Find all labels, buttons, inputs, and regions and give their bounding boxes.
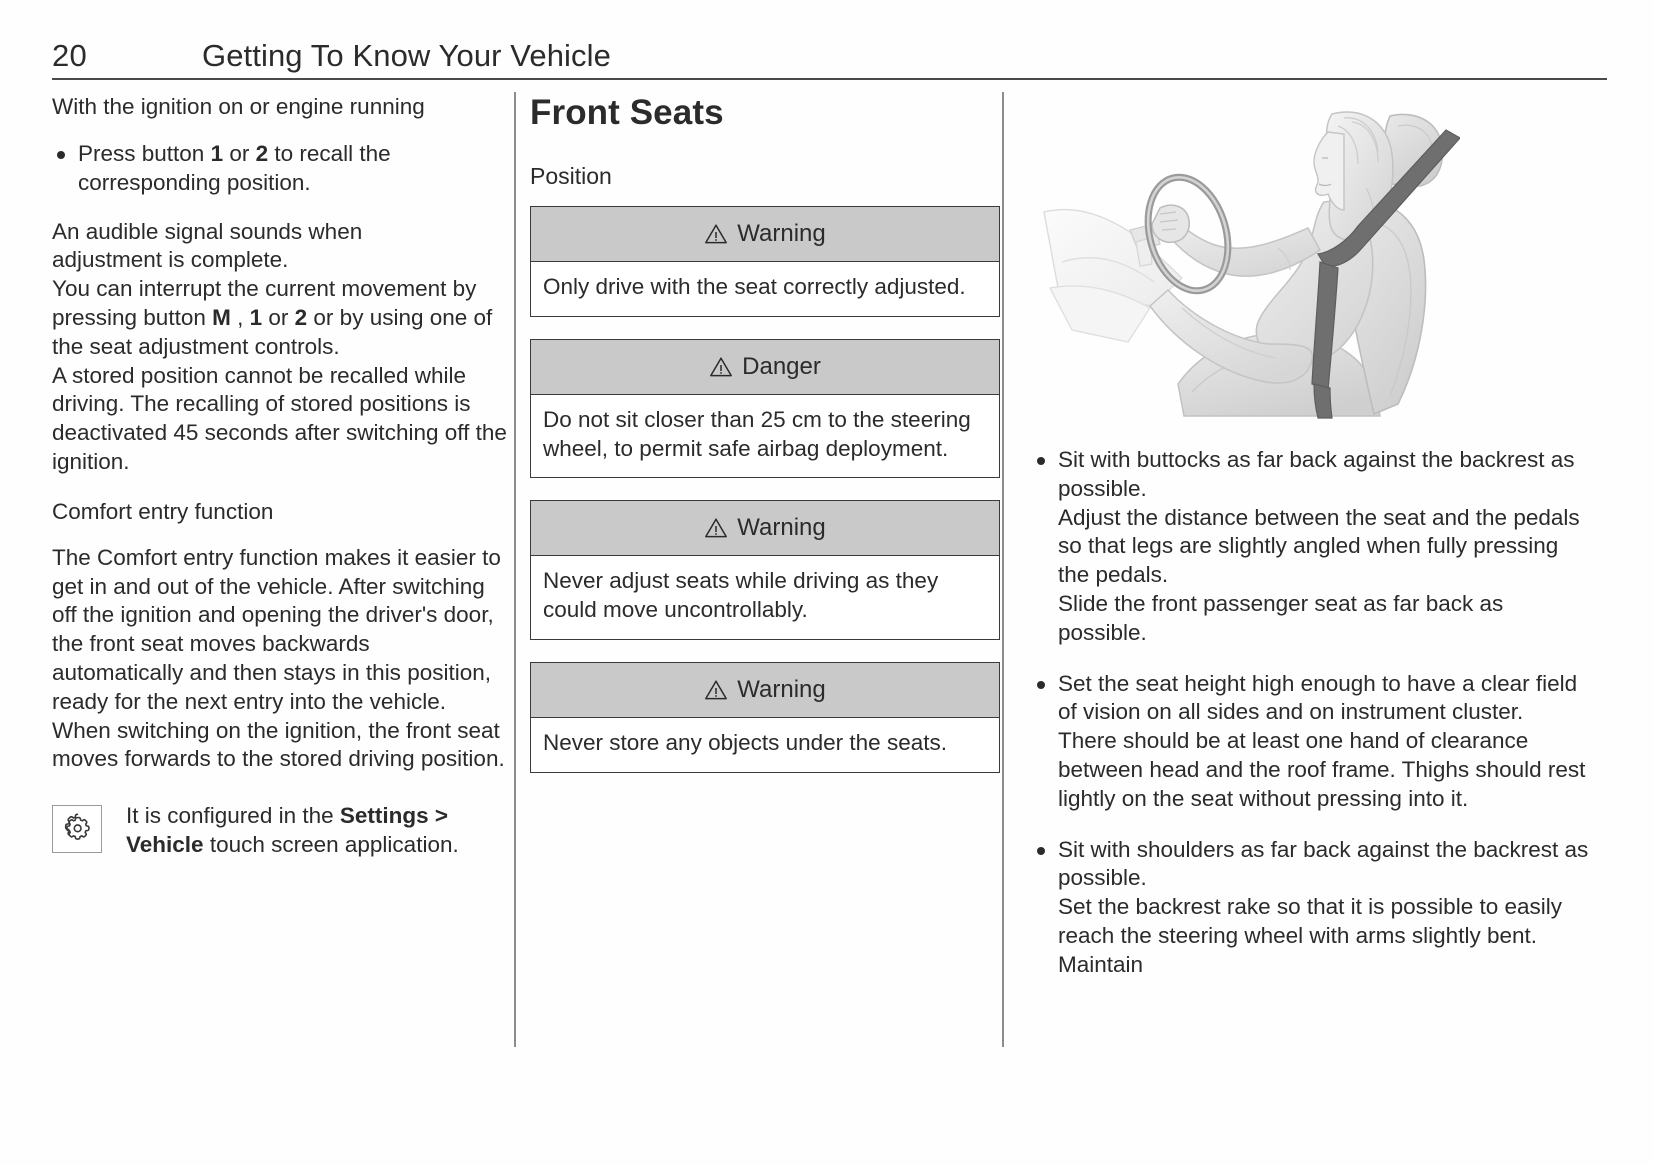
seating-position-bullets: Sit with buttocks as far back against th…	[1032, 446, 1592, 980]
column-divider-right	[1002, 92, 1004, 1047]
bullet-text-pre: Press button	[78, 141, 211, 166]
notice-box-warning-2: Warning Never adjust seats while driving…	[530, 500, 1000, 640]
settings-note: It is configured in the Settings > Vehic…	[52, 802, 507, 860]
notice-label: Warning	[737, 676, 825, 704]
list-item: Set the seat height high enough to have …	[1032, 670, 1592, 814]
left-column-heading: With the ignition on or engine running	[52, 92, 507, 121]
notice-label: Warning	[737, 514, 825, 542]
middle-column: Front Seats Position Warning Only drive …	[530, 92, 1000, 1052]
warning-triangle-icon	[704, 679, 728, 701]
warning-triangle-icon	[704, 223, 728, 245]
notice-box-warning-1: Warning Only drive with the seat correct…	[530, 206, 1000, 317]
button-label-2: 2	[256, 141, 269, 166]
stored-position-text: A stored position cannot be recalled whi…	[52, 363, 507, 474]
list-item: Sit with shoulders as far back against t…	[1032, 836, 1592, 980]
notice-body: Never store any objects under the seats.	[531, 718, 999, 772]
paragraph-comfort-entry: The Comfort entry function makes it easi…	[52, 544, 507, 774]
page-title: Getting To Know Your Vehicle	[202, 38, 611, 74]
notice-body: Only drive with the seat correctly adjus…	[531, 262, 999, 316]
warning-triangle-icon	[704, 517, 728, 539]
interrupt-sep1: ,	[231, 305, 250, 330]
notice-box-warning-3: Warning Never store any objects under th…	[530, 662, 1000, 773]
settings-note-post: touch screen application.	[204, 832, 459, 857]
warning-triangle-icon	[709, 356, 733, 378]
paragraph-audible-signal: An audible signal sounds when adjustment…	[52, 218, 507, 477]
settings-note-pre: It is configured in the	[126, 803, 340, 828]
interrupt-sep2: or	[262, 305, 295, 330]
section-title-front-seats: Front Seats	[530, 92, 1000, 134]
button-label-2b: 2	[295, 305, 308, 330]
button-label-1: 1	[211, 141, 224, 166]
comfort-entry-text-2: When switching on the ignition, the fron…	[52, 718, 505, 772]
notice-body: Never adjust seats while driving as they…	[531, 556, 999, 639]
gear-icon-box	[52, 805, 102, 853]
page-number: 20	[52, 38, 87, 74]
button-label-m: M	[212, 305, 231, 330]
bullet-text-mid: or	[223, 141, 256, 166]
notice-header: Warning	[531, 663, 999, 718]
page-header: 20 Getting To Know Your Vehicle	[52, 38, 1607, 82]
comfort-entry-text: The Comfort entry function makes it easi…	[52, 545, 501, 714]
notice-body: Do not sit closer than 25 cm to the stee…	[531, 395, 999, 478]
left-column: With the ignition on or engine running P…	[52, 92, 507, 1052]
notice-label: Warning	[737, 220, 825, 248]
gear-icon	[62, 812, 92, 847]
button-label-1b: 1	[250, 305, 263, 330]
subheading-comfort-entry: Comfort entry function	[52, 497, 507, 526]
header-divider-rule	[52, 78, 1607, 80]
column-divider-left	[514, 92, 516, 1047]
line-1: An audible signal sounds when	[52, 219, 362, 244]
manual-page: 20 Getting To Know Your Vehicle With the…	[0, 0, 1653, 1165]
list-item: Sit with buttocks as far back against th…	[1032, 446, 1592, 648]
right-column: Sit with buttocks as far back against th…	[1022, 92, 1607, 1052]
line-2: adjustment is complete.	[52, 247, 288, 272]
settings-note-text: It is configured in the Settings > Vehic…	[126, 802, 507, 860]
driver-seating-position-illustration	[1032, 92, 1460, 420]
list-item: Press button 1 or 2 to recall the corres…	[52, 140, 507, 198]
notice-header: Danger	[531, 340, 999, 395]
notice-label: Danger	[742, 353, 821, 381]
content-columns: With the ignition on or engine running P…	[52, 92, 1607, 1052]
notice-box-danger: Danger Do not sit closer than 25 cm to t…	[530, 339, 1000, 479]
subheading-position: Position	[530, 162, 1000, 190]
notice-header: Warning	[531, 207, 999, 262]
notice-header: Warning	[531, 501, 999, 556]
